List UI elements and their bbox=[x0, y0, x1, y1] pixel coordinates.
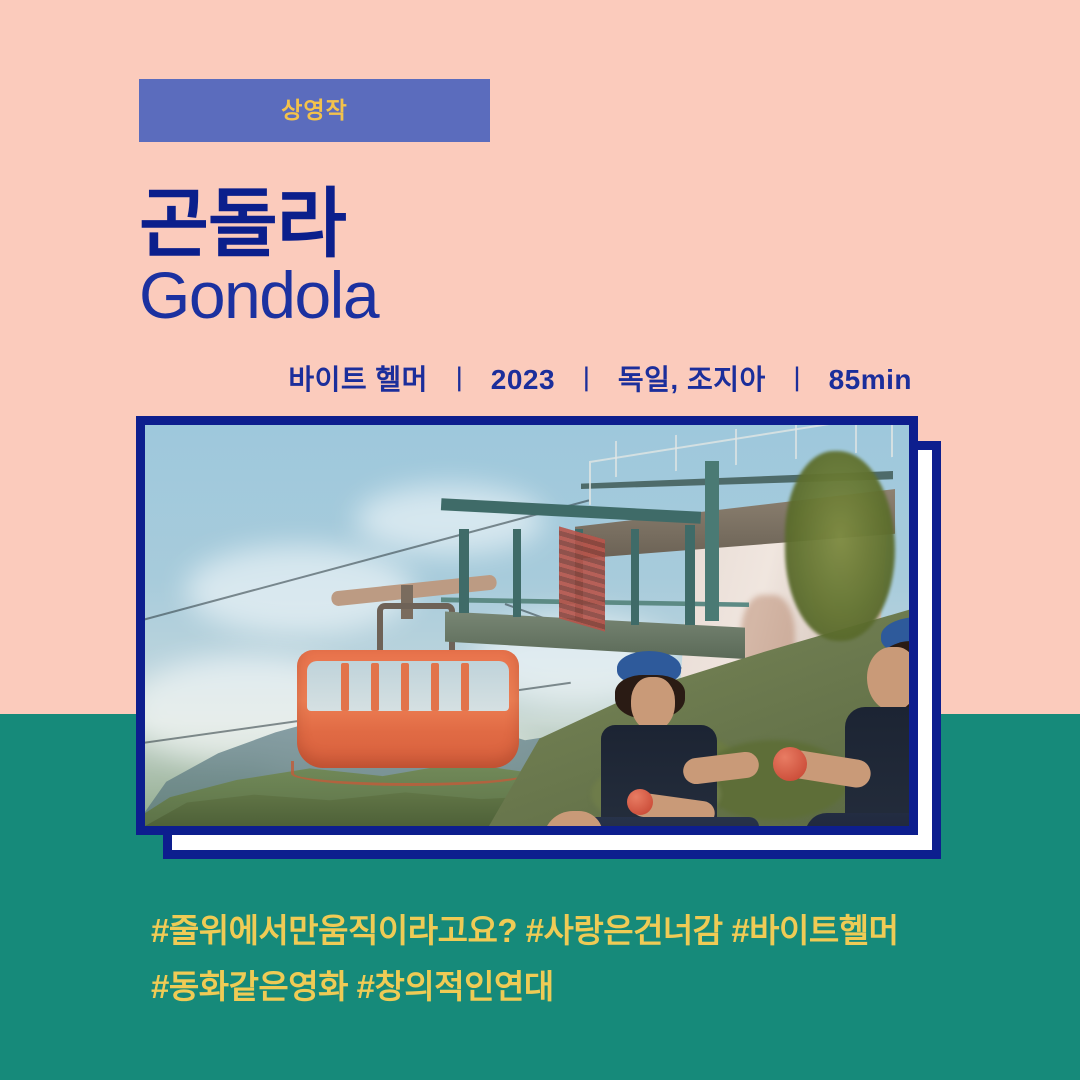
gondola-window-bar bbox=[431, 663, 439, 711]
gondola-window-bar bbox=[401, 663, 409, 711]
tree bbox=[785, 451, 895, 641]
hashtag-line-2: #동화같은영화 #창의적인연대 bbox=[151, 959, 971, 1015]
gondola-base-ring bbox=[291, 761, 531, 786]
film-title-english: Gondola bbox=[139, 262, 378, 328]
gondola-window-bar bbox=[371, 663, 379, 711]
support-beam bbox=[459, 529, 469, 613]
station-stairs bbox=[559, 526, 605, 631]
trousers-right bbox=[805, 813, 909, 826]
support-beam bbox=[685, 525, 695, 625]
apple-shared bbox=[773, 747, 807, 781]
hashtag-block: #줄위에서만움직이라고요? #사랑은건너감 #바이트헬머 #동화같은영화 #창의… bbox=[151, 903, 971, 1015]
tower-column bbox=[705, 461, 719, 621]
railing-post bbox=[795, 425, 797, 459]
meta-year: 2023 bbox=[491, 364, 555, 395]
screening-badge-label: 상영작 bbox=[281, 99, 347, 122]
film-still-frame bbox=[136, 416, 918, 835]
film-title-korean: 곤돌라 bbox=[139, 187, 346, 263]
film-still-photo bbox=[145, 425, 909, 826]
meta-separator-1: ㅣ bbox=[436, 364, 482, 395]
meta-runtime: 85min bbox=[829, 364, 912, 395]
film-poster-card: 상영작 곤돌라 Gondola 바이트 헬머 ㅣ 2023 ㅣ 독일, 조지아 … bbox=[0, 0, 1080, 1080]
railing-post bbox=[675, 435, 677, 471]
film-metadata-line: 바이트 헬머 ㅣ 2023 ㅣ 독일, 조지아 ㅣ 85min bbox=[0, 358, 1080, 398]
gondola-window-bar bbox=[461, 663, 469, 711]
meta-separator-3: ㅣ bbox=[774, 364, 820, 395]
apple-small bbox=[627, 789, 653, 815]
gondola-window-bar bbox=[341, 663, 349, 711]
support-beam bbox=[631, 529, 639, 625]
meta-separator-2: ㅣ bbox=[563, 364, 609, 395]
railing-post bbox=[855, 425, 857, 453]
hashtag-line-1: #줄위에서만움직이라고요? #사랑은건너감 #바이트헬머 bbox=[151, 903, 971, 959]
railing-post bbox=[735, 429, 737, 465]
support-beam bbox=[513, 529, 521, 617]
railing-post bbox=[615, 441, 617, 477]
meta-country: 독일, 조지아 bbox=[618, 364, 766, 395]
meta-director: 바이트 헬머 bbox=[288, 364, 428, 395]
face-left bbox=[631, 677, 675, 731]
screening-badge: 상영작 bbox=[139, 79, 490, 142]
